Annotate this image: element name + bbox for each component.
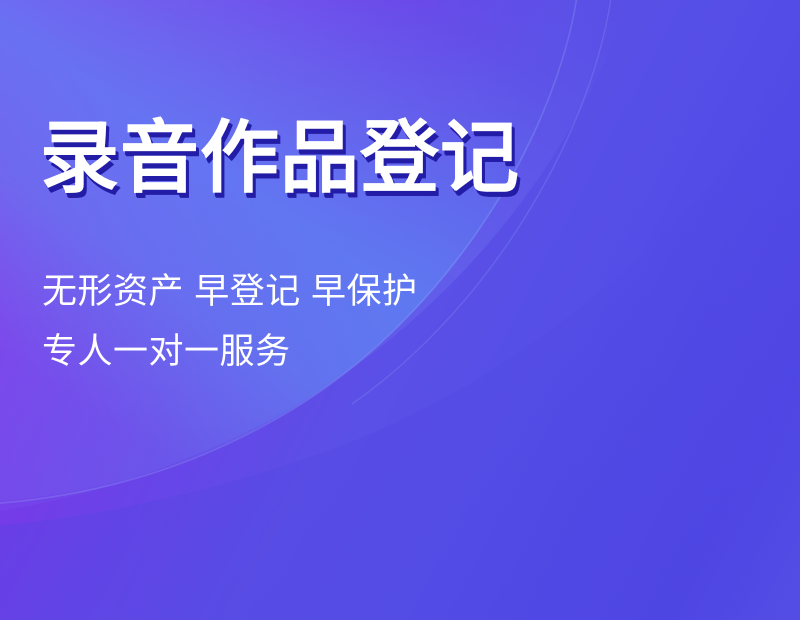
arc-edge-highlight — [0, 0, 578, 504]
arc-bright-shape — [0, 0, 580, 502]
subtitle-line-2: 专人一对一服务 — [42, 322, 682, 382]
page-title: 录音作品登记 — [40, 118, 660, 197]
subtitle-block: 无形资产 早登记 早保护 专人一对一服务 — [42, 262, 682, 382]
subtitle-line-1: 无形资产 早登记 早保护 — [42, 262, 682, 322]
promo-banner: 录音作品登记 无形资产 早登记 早保护 专人一对一服务 — [0, 0, 800, 620]
headline-block: 录音作品登记 — [40, 118, 660, 197]
arc-soft-shape — [0, 0, 640, 516]
